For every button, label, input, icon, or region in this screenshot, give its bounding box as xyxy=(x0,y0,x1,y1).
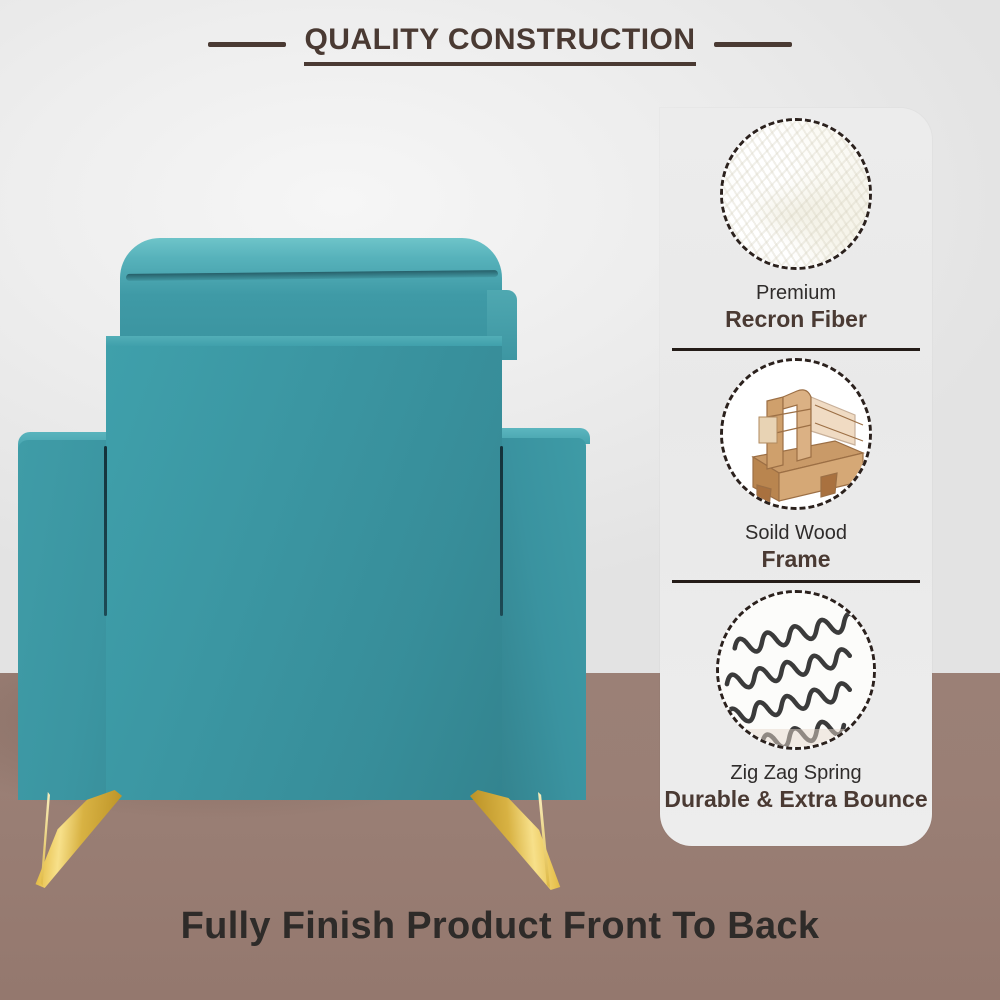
back-cushion xyxy=(120,238,502,348)
feature-caption: Soild Wood Frame xyxy=(745,522,847,573)
right-seam-line xyxy=(500,446,503,616)
chair-back-top-highlight xyxy=(106,336,502,346)
zigzag-spring-icon xyxy=(716,590,876,750)
feature-caption: Zig Zag Spring Durable & Extra Bounce xyxy=(664,762,927,813)
feature-card-recron-fiber: Premium Recron Fiber xyxy=(660,118,932,333)
card-divider xyxy=(672,348,920,351)
wood-frame-icon xyxy=(720,358,872,510)
chair-back-panel xyxy=(106,336,502,800)
footer-caption: Fully Finish Product Front To Back xyxy=(0,905,1000,948)
gold-leg-left xyxy=(30,790,122,888)
card-divider xyxy=(672,580,920,583)
feature-caption: Premium Recron Fiber xyxy=(725,282,867,333)
feature-caption-line1: Zig Zag Spring xyxy=(664,762,927,786)
product-image-armchair xyxy=(0,0,700,900)
feature-caption-line2: Frame xyxy=(745,546,847,573)
feature-card-wood-frame: Soild Wood Frame xyxy=(660,358,932,573)
infographic-canvas: QUALITY CONSTRUCTION Premium Recron Fi xyxy=(0,0,1000,1000)
feature-caption-line2: Recron Fiber xyxy=(725,306,867,333)
gold-leg-right xyxy=(470,790,566,890)
feature-caption-line1: Soild Wood xyxy=(745,522,847,546)
recron-fiber-icon xyxy=(720,118,872,270)
left-seam-line xyxy=(104,446,107,616)
feature-card-zigzag-spring: Zig Zag Spring Durable & Extra Bounce xyxy=(660,590,932,813)
right-armrest xyxy=(498,438,586,800)
header-dash-right-icon xyxy=(714,42,792,47)
feature-caption-line2: Durable & Extra Bounce xyxy=(664,786,927,813)
features-panel: Premium Recron Fiber xyxy=(660,108,932,846)
feature-caption-line1: Premium xyxy=(725,282,867,306)
